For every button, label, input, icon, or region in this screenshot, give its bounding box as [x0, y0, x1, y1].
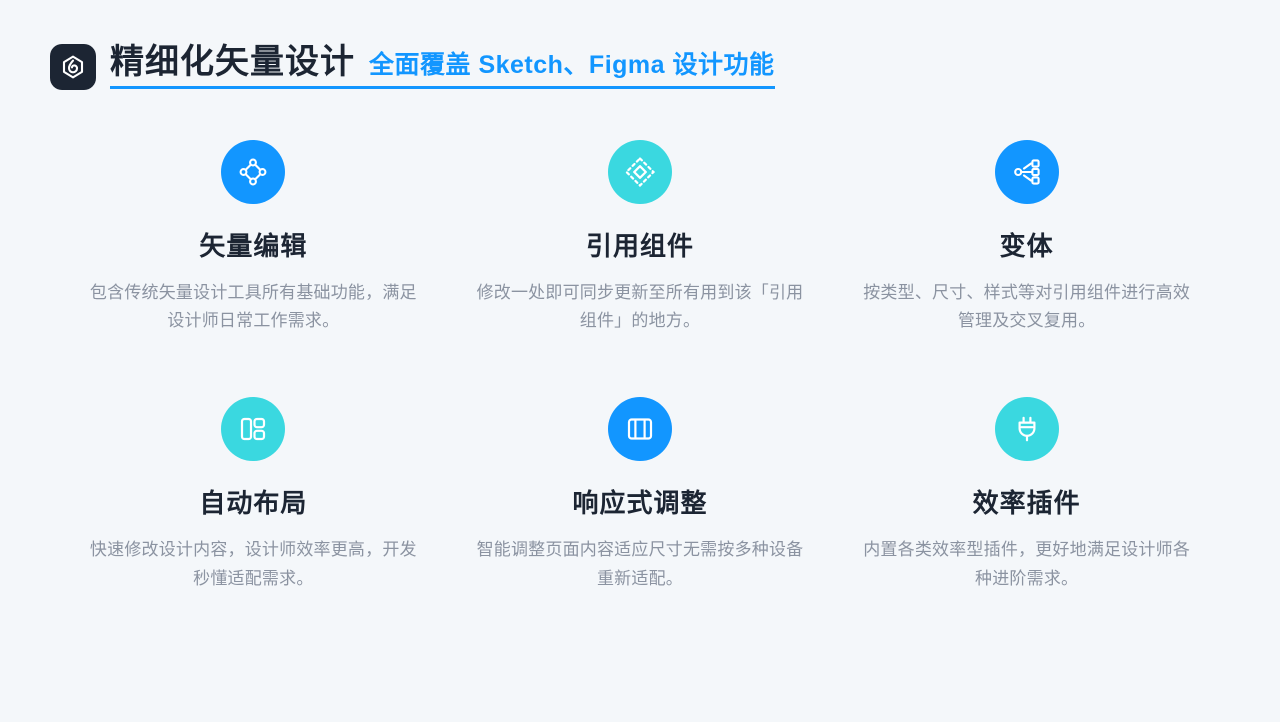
- page-subtitle: 全面覆盖 Sketch、Figma 设计功能: [369, 53, 775, 78]
- component-instance-diamond-icon: [608, 140, 672, 204]
- feature-card-variants: 变体 按类型、尺寸、样式等对引用组件进行高效管理及交叉复用。: [833, 140, 1220, 335]
- feature-title: 响应式调整: [572, 490, 707, 516]
- feature-title: 自动布局: [199, 490, 307, 516]
- feature-description: 包含传统矢量设计工具所有基础功能，满足设计师日常工作需求。: [88, 279, 418, 335]
- feature-description: 智能调整页面内容适应尺寸无需按多种设备重新适配。: [475, 536, 805, 592]
- feature-title: 矢量编辑: [199, 233, 307, 259]
- header-title-block: 精细化矢量设计 全面覆盖 Sketch、Figma 设计功能: [110, 45, 775, 89]
- variants-share-nodes-icon: [995, 140, 1059, 204]
- feature-card-responsive: 响应式调整 智能调整页面内容适应尺寸无需按多种设备重新适配。: [447, 397, 834, 592]
- feature-grid: 矢量编辑 包含传统矢量设计工具所有基础功能，满足设计师日常工作需求。 引用组件 …: [60, 140, 1220, 655]
- feature-overview-page: 精细化矢量设计 全面覆盖 Sketch、Figma 设计功能 矢量编辑 包含传统…: [0, 0, 1280, 722]
- feature-card-auto-layout: 自动布局 快速修改设计内容，设计师效率更高，开发秒懂适配需求。: [60, 397, 447, 592]
- feature-description: 修改一处即可同步更新至所有用到该「引用组件」的地方。: [475, 279, 805, 335]
- feature-card-vector-editing: 矢量编辑 包含传统矢量设计工具所有基础功能，满足设计师日常工作需求。: [60, 140, 447, 335]
- page-title: 精细化矢量设计: [110, 45, 355, 79]
- vector-node-diamond-icon: [221, 140, 285, 204]
- plugin-plug-icon: [995, 397, 1059, 461]
- feature-description: 按类型、尺寸、样式等对引用组件进行高效管理及交叉复用。: [862, 279, 1192, 335]
- auto-layout-grid-icon: [221, 397, 285, 461]
- title-underline: [110, 86, 775, 89]
- feature-title: 变体: [1000, 233, 1054, 259]
- feature-title: 引用组件: [586, 233, 694, 259]
- feature-card-component-instance: 引用组件 修改一处即可同步更新至所有用到该「引用组件」的地方。: [447, 140, 834, 335]
- feature-description: 快速修改设计内容，设计师效率更高，开发秒懂适配需求。: [88, 536, 418, 592]
- mastergo-flame-logo-icon: [59, 53, 87, 81]
- app-logo: [50, 44, 96, 90]
- page-header: 精细化矢量设计 全面覆盖 Sketch、Figma 设计功能: [50, 44, 775, 90]
- feature-title: 效率插件: [973, 490, 1081, 516]
- responsive-constraints-icon: [608, 397, 672, 461]
- feature-card-plugins: 效率插件 内置各类效率型插件，更好地满足设计师各种进阶需求。: [833, 397, 1220, 592]
- feature-description: 内置各类效率型插件，更好地满足设计师各种进阶需求。: [862, 536, 1192, 592]
